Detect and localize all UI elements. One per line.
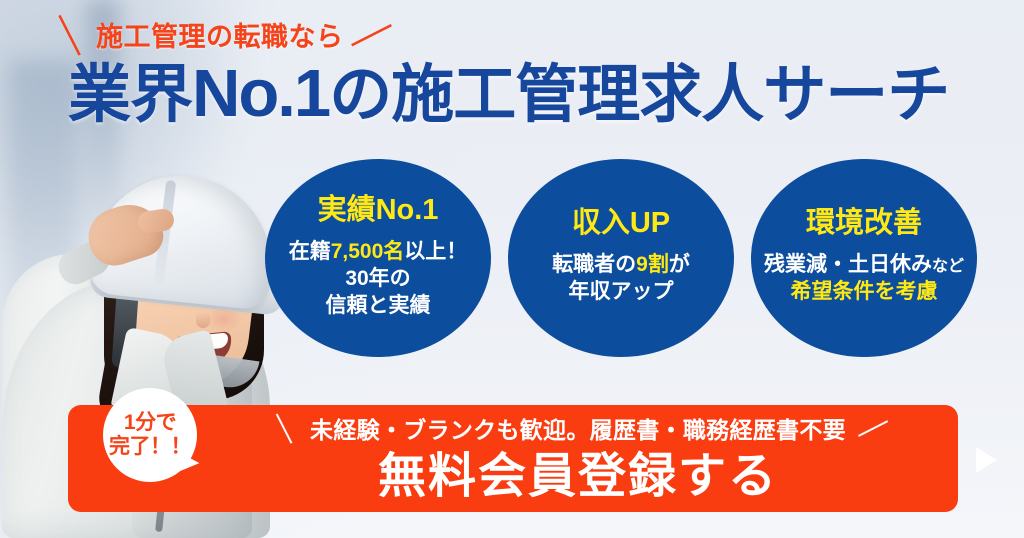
- feature-circle-income-body: 転職者の9割が 年収アップ: [552, 251, 690, 306]
- feature-text: 残業減・土日休み: [764, 253, 932, 276]
- feature-circle-group: 実績No.1 在籍7,500名以上！ 30年の 信頼と実績 収入UP 転職者の9…: [265, 159, 977, 357]
- feature-circle-environment-body: 残業減・土日休みなど 希望条件を考慮: [764, 251, 964, 306]
- feature-circle-environment: 環境改善 残業減・土日休みなど 希望条件を考慮: [751, 159, 977, 357]
- badge-line-1: 1分で: [124, 411, 176, 435]
- eyebrow-slash-right-icon: ／: [349, 16, 392, 59]
- feature-line: 残業減・土日休みなど: [764, 251, 964, 278]
- feature-circle-achievements: 実績No.1 在籍7,500名以上！ 30年の 信頼と実績: [265, 159, 491, 357]
- feature-highlight: 7,500名: [331, 240, 405, 263]
- feature-circle-achievements-body: 在籍7,500名以上！ 30年の 信頼と実績: [289, 238, 468, 320]
- free-registration-button[interactable]: ＼ 未経験・ブランクも歓迎。履歴書・職務経歴書不要 ／ 無料会員登録する: [68, 405, 958, 512]
- feature-line: 在籍7,500名以上！: [289, 238, 468, 265]
- eyebrow-text: 施工管理の転職なら: [96, 24, 344, 51]
- play-triangle-icon: [976, 447, 997, 473]
- feature-highlight: 9割: [636, 253, 669, 276]
- feature-text-small: など: [932, 258, 964, 275]
- one-minute-badge: 1分で 完了！！: [103, 388, 197, 482]
- cta-subtext-row: ＼ 未経験・ブランクも歓迎。履歴書・職務経歴書不要 ／: [228, 418, 928, 443]
- feature-line: 年収アップ: [552, 278, 690, 305]
- cta-label: 無料会員登録する: [228, 448, 928, 507]
- feature-text: 在籍: [289, 240, 331, 263]
- worker-nose: [196, 312, 210, 328]
- eyebrow-copy: ＼ 施工管理の転職なら ／: [52, 20, 388, 54]
- feature-circle-income-title: 収入UP: [572, 208, 670, 240]
- feature-line: 信頼と実績: [289, 292, 468, 319]
- feature-line: 30年の: [289, 265, 468, 292]
- page-title: 業界No.1の施工管理求人サーチ: [68, 58, 949, 130]
- recruitment-banner: ＼ 施工管理の転職なら ／ 業界No.1の施工管理求人サーチ 実績No.1 在籍…: [0, 0, 1024, 538]
- feature-circle-achievements-title: 実績No.1: [318, 195, 439, 227]
- feature-text: 転職者の: [552, 253, 636, 276]
- feature-line: 希望条件を考慮: [764, 278, 964, 305]
- cta-slash-right-icon: ／: [857, 415, 889, 447]
- feature-circle-income: 収入UP 転職者の9割が 年収アップ: [508, 159, 734, 357]
- headline-part1: 業界: [68, 60, 192, 130]
- cta-subtext: 未経験・ブランクも歓迎。履歴書・職務経歴書不要: [310, 419, 846, 442]
- feature-text: 以上！: [404, 240, 467, 263]
- cta-slash-left-icon: ＼: [268, 415, 300, 447]
- headline-no1: No.1: [192, 56, 329, 131]
- feature-text: が: [669, 253, 690, 276]
- eyebrow-slash-left-icon: ＼: [48, 16, 91, 59]
- headline-part2: の施工管理求人サーチ: [329, 60, 949, 130]
- badge-line-2: 完了！！: [109, 435, 191, 459]
- feature-circle-environment-title: 環境改善: [806, 208, 922, 240]
- feature-line: 転職者の9割が: [552, 251, 690, 278]
